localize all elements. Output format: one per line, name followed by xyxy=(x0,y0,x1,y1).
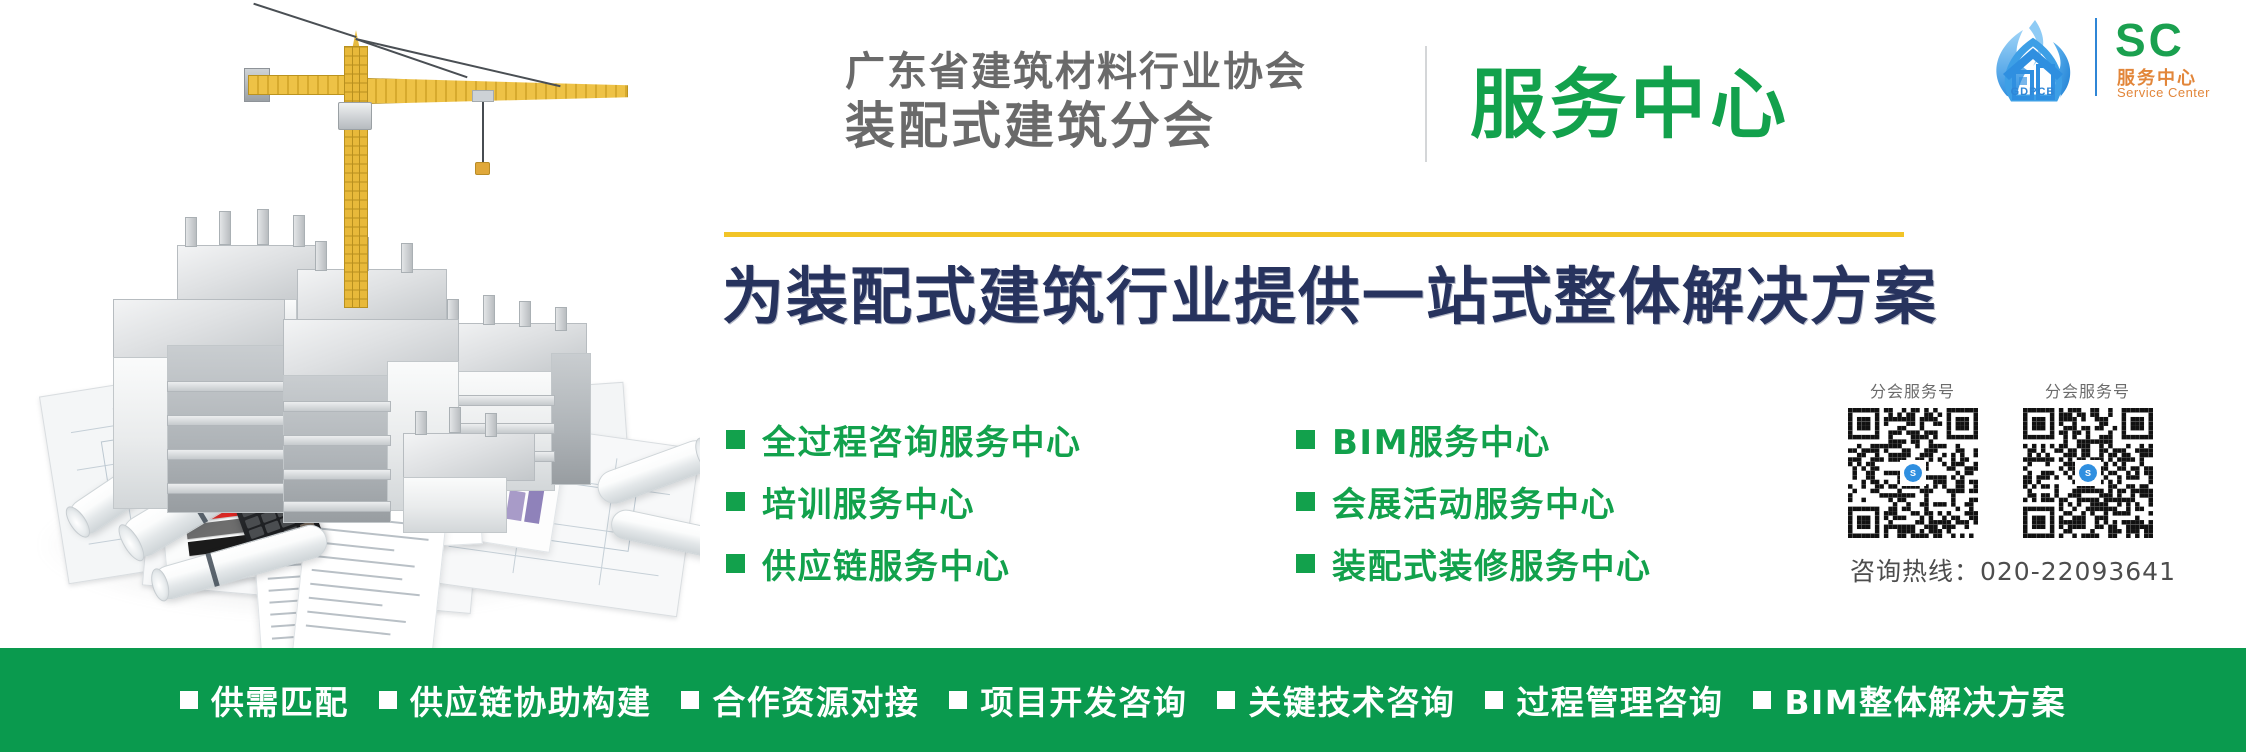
bullet-square-icon xyxy=(1485,691,1503,709)
service-item[interactable]: 会展活动服务中心 xyxy=(1296,470,1652,532)
bullet-square-icon xyxy=(726,430,745,449)
bottom-service-bar: 供需匹配 供应链协助构建 合作资源对接 项目开发咨询 关键技术咨询 过程管理咨询… xyxy=(0,648,2246,752)
bullet-square-icon xyxy=(1753,691,1771,709)
qr-code-image[interactable] xyxy=(1848,408,1978,538)
bottom-bar-item[interactable]: 供需匹配 xyxy=(180,676,349,724)
logo-sc-english: Service Center xyxy=(2117,85,2210,100)
bottom-bar-item[interactable]: 合作资源对接 xyxy=(681,676,919,724)
header-divider xyxy=(1425,46,1427,162)
qr-code-block: 分会服务号 xyxy=(1840,378,1985,538)
bullet-square-icon xyxy=(726,492,745,511)
service-item-label: BIM服务中心 xyxy=(1332,415,1551,464)
qr-caption: 分会服务号 xyxy=(2015,378,2160,402)
banner-root: A B C D E F G H I Mortgage Application xyxy=(0,0,2246,752)
bullet-square-icon xyxy=(1217,691,1235,709)
service-column-left: 全过程咨询服务中心 培训服务中心 供应链服务中心 xyxy=(726,408,1082,594)
bottom-bar-item-label: 关键技术咨询 xyxy=(1248,676,1455,724)
bullet-square-icon xyxy=(180,691,198,709)
bottom-bar-item-label: 过程管理咨询 xyxy=(1516,676,1723,724)
bullet-square-icon xyxy=(1296,492,1315,511)
service-item-label: 供应链服务中心 xyxy=(762,539,1011,588)
bullet-square-icon xyxy=(681,691,699,709)
bottom-bar-item-label: 供应链协助构建 xyxy=(410,676,652,724)
logo[interactable]: GDPCB SC 服务中心 Service Center xyxy=(1983,12,2231,102)
bottom-bar-item[interactable]: 供应链协助构建 xyxy=(379,676,652,724)
bottom-bar-item[interactable]: 过程管理咨询 xyxy=(1485,676,1723,724)
service-item-label: 培训服务中心 xyxy=(762,477,975,526)
bullet-square-icon xyxy=(1296,430,1315,449)
qr-code-image[interactable] xyxy=(2023,408,2153,538)
service-column-right: BIM服务中心 会展活动服务中心 装配式装修服务中心 xyxy=(1296,408,1652,594)
service-item-label: 装配式装修服务中心 xyxy=(1332,539,1652,588)
logo-abbreviation: GDPCB xyxy=(1983,86,2083,98)
service-item-label: 全过程咨询服务中心 xyxy=(762,415,1082,464)
tagline: 为装配式建筑行业提供一站式整体解决方案 xyxy=(722,256,1938,338)
service-item-label: 会展活动服务中心 xyxy=(1332,477,1616,526)
bullet-square-icon xyxy=(726,554,745,573)
logo-sc-text: SC xyxy=(2115,16,2185,64)
org-line-2: 装配式建筑分会 xyxy=(845,96,1307,156)
service-item[interactable]: BIM服务中心 xyxy=(1296,408,1652,470)
logo-divider xyxy=(2095,18,2097,96)
service-item[interactable]: 装配式装修服务中心 xyxy=(1296,532,1652,594)
qr-caption: 分会服务号 xyxy=(1840,378,1985,402)
yellow-divider-rule xyxy=(724,232,1904,237)
service-center-title: 服务中心 xyxy=(1470,50,1790,160)
service-item[interactable]: 培训服务中心 xyxy=(726,470,1082,532)
bullet-square-icon xyxy=(1296,554,1315,573)
bottom-bar-item[interactable]: 关键技术咨询 xyxy=(1217,676,1455,724)
bottom-bar-item-label: 供需匹配 xyxy=(211,676,349,724)
bottom-bar-item-label: 合作资源对接 xyxy=(712,676,919,724)
tower-crane xyxy=(240,28,620,328)
bottom-bar-item-label: 项目开发咨询 xyxy=(980,676,1187,724)
bottom-bar-item[interactable]: 项目开发咨询 xyxy=(949,676,1187,724)
org-line-1: 广东省建筑材料行业协会 xyxy=(845,48,1307,96)
hero-construction-image: A B C D E F G H I Mortgage Application xyxy=(0,0,700,650)
organization-name: 广东省建筑材料行业协会 装配式建筑分会 xyxy=(845,48,1307,156)
service-item[interactable]: 全过程咨询服务中心 xyxy=(726,408,1082,470)
hotline-text: 咨询热线：020-22093641 xyxy=(1838,552,2188,588)
qr-code-block: 分会服务号 xyxy=(2015,378,2160,538)
bottom-bar-item[interactable]: BIM整体解决方案 xyxy=(1753,676,2066,724)
bottom-bar-item-label: BIM整体解决方案 xyxy=(1784,676,2066,724)
service-item[interactable]: 供应链服务中心 xyxy=(726,532,1082,594)
bullet-square-icon xyxy=(949,691,967,709)
bullet-square-icon xyxy=(379,691,397,709)
